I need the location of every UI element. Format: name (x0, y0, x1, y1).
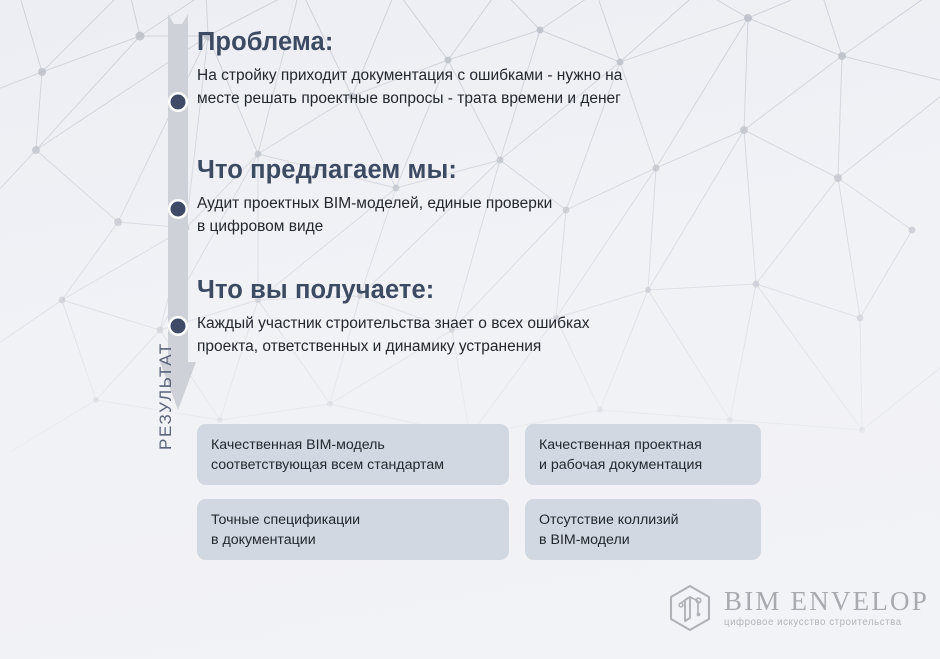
section-offer: Что предлагаем мы: Аудит проектных BIM-м… (197, 156, 552, 238)
result-grid: Качественная BIM-модель соответствующая … (197, 424, 761, 560)
result-box: Качественная проектная и рабочая докумен… (525, 424, 761, 485)
timeline-dot (168, 199, 188, 219)
section-problem-title: Проблема: (197, 28, 622, 57)
section-problem: Проблема: На стройку приходит документац… (197, 28, 622, 110)
section-offer-body: Аудит проектных BIM-моделей, единые пров… (197, 192, 552, 238)
result-vertical-label: РЕЗУЛЬТАТ (153, 310, 179, 450)
section-gain: Что вы получаете: Каждый участник строит… (197, 276, 589, 358)
result-box: Точные спецификации в документации (197, 499, 509, 560)
hexagon-envelope-icon (668, 584, 712, 632)
logo-wordmark: BIM ENVELOP (724, 587, 929, 615)
result-box: Отсутствие коллизий в BIM-модели (525, 499, 761, 560)
timeline-dot (168, 92, 188, 112)
logo-text-group: BIM ENVELOP цифровое искусство строитель… (724, 587, 929, 629)
result-box: Качественная BIM-модель соответствующая … (197, 424, 509, 485)
section-gain-title: Что вы получаете: (197, 276, 589, 305)
brand-logo: BIM ENVELOP цифровое искусство строитель… (668, 584, 929, 632)
section-offer-title: Что предлагаем мы: (197, 156, 552, 185)
section-gain-body: Каждый участник строительства знает о вс… (197, 312, 589, 358)
section-problem-body: На стройку приходит документация с ошибк… (197, 64, 622, 110)
logo-tagline: цифровое искусство строительства (724, 616, 929, 629)
